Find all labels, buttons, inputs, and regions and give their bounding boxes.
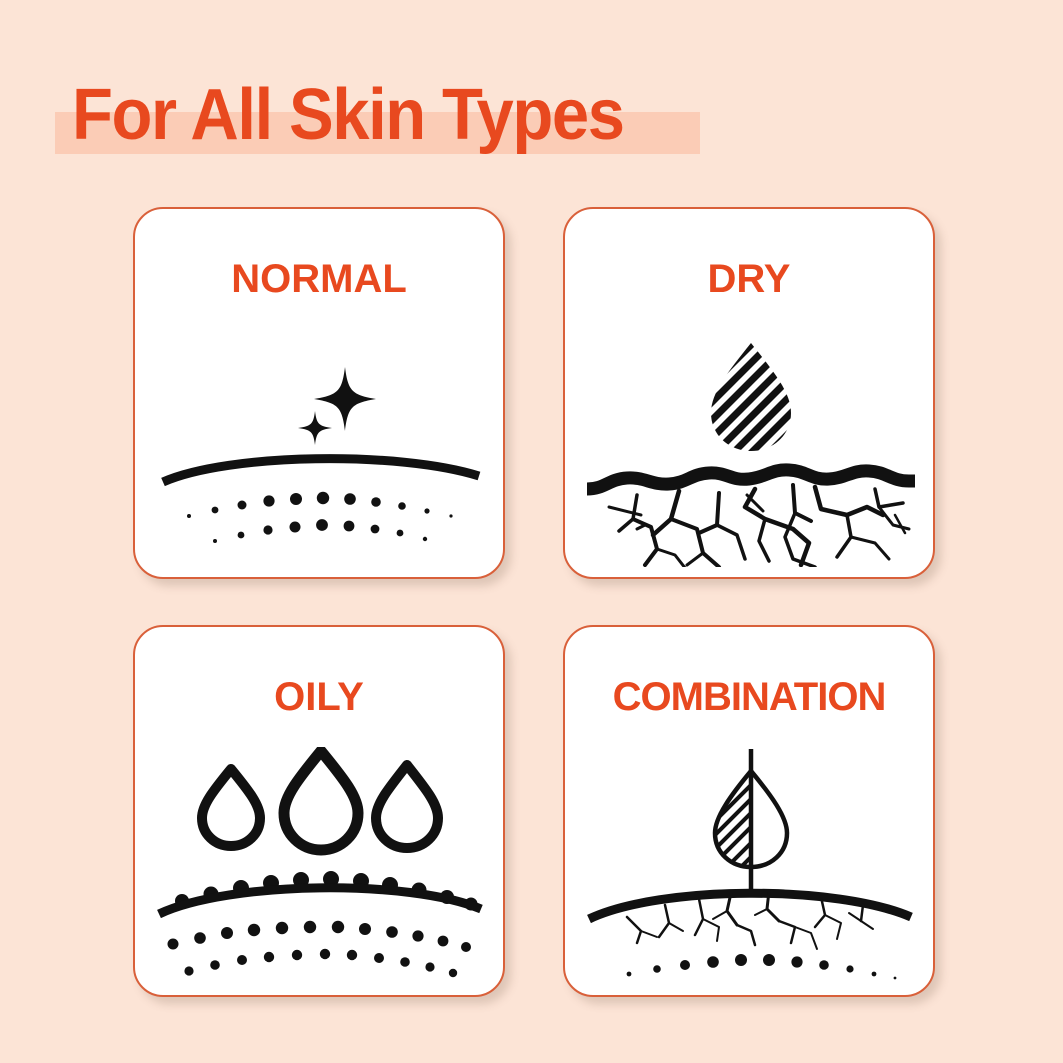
skin-type-card-grid: NORMAL: [133, 207, 938, 997]
card-label-oily: OILY: [135, 675, 503, 720]
page-header: For All Skin Types: [0, 60, 1063, 170]
combination-skin-icon: [579, 747, 923, 985]
skin-type-card-oily[interactable]: OILY: [133, 625, 505, 997]
card-label-combination: COMBINATION: [565, 675, 933, 720]
oily-skin-icon: [149, 747, 493, 985]
dry-skin-icon: [579, 329, 923, 567]
card-label-dry: DRY: [565, 257, 933, 302]
skin-type-card-combination[interactable]: COMBINATION: [563, 625, 935, 997]
card-label-normal: NORMAL: [135, 257, 503, 302]
skin-type-card-normal[interactable]: NORMAL: [133, 207, 505, 579]
normal-skin-icon: [149, 329, 493, 567]
skin-type-card-dry[interactable]: DRY: [563, 207, 935, 579]
page-title: For All Skin Types: [72, 74, 624, 156]
